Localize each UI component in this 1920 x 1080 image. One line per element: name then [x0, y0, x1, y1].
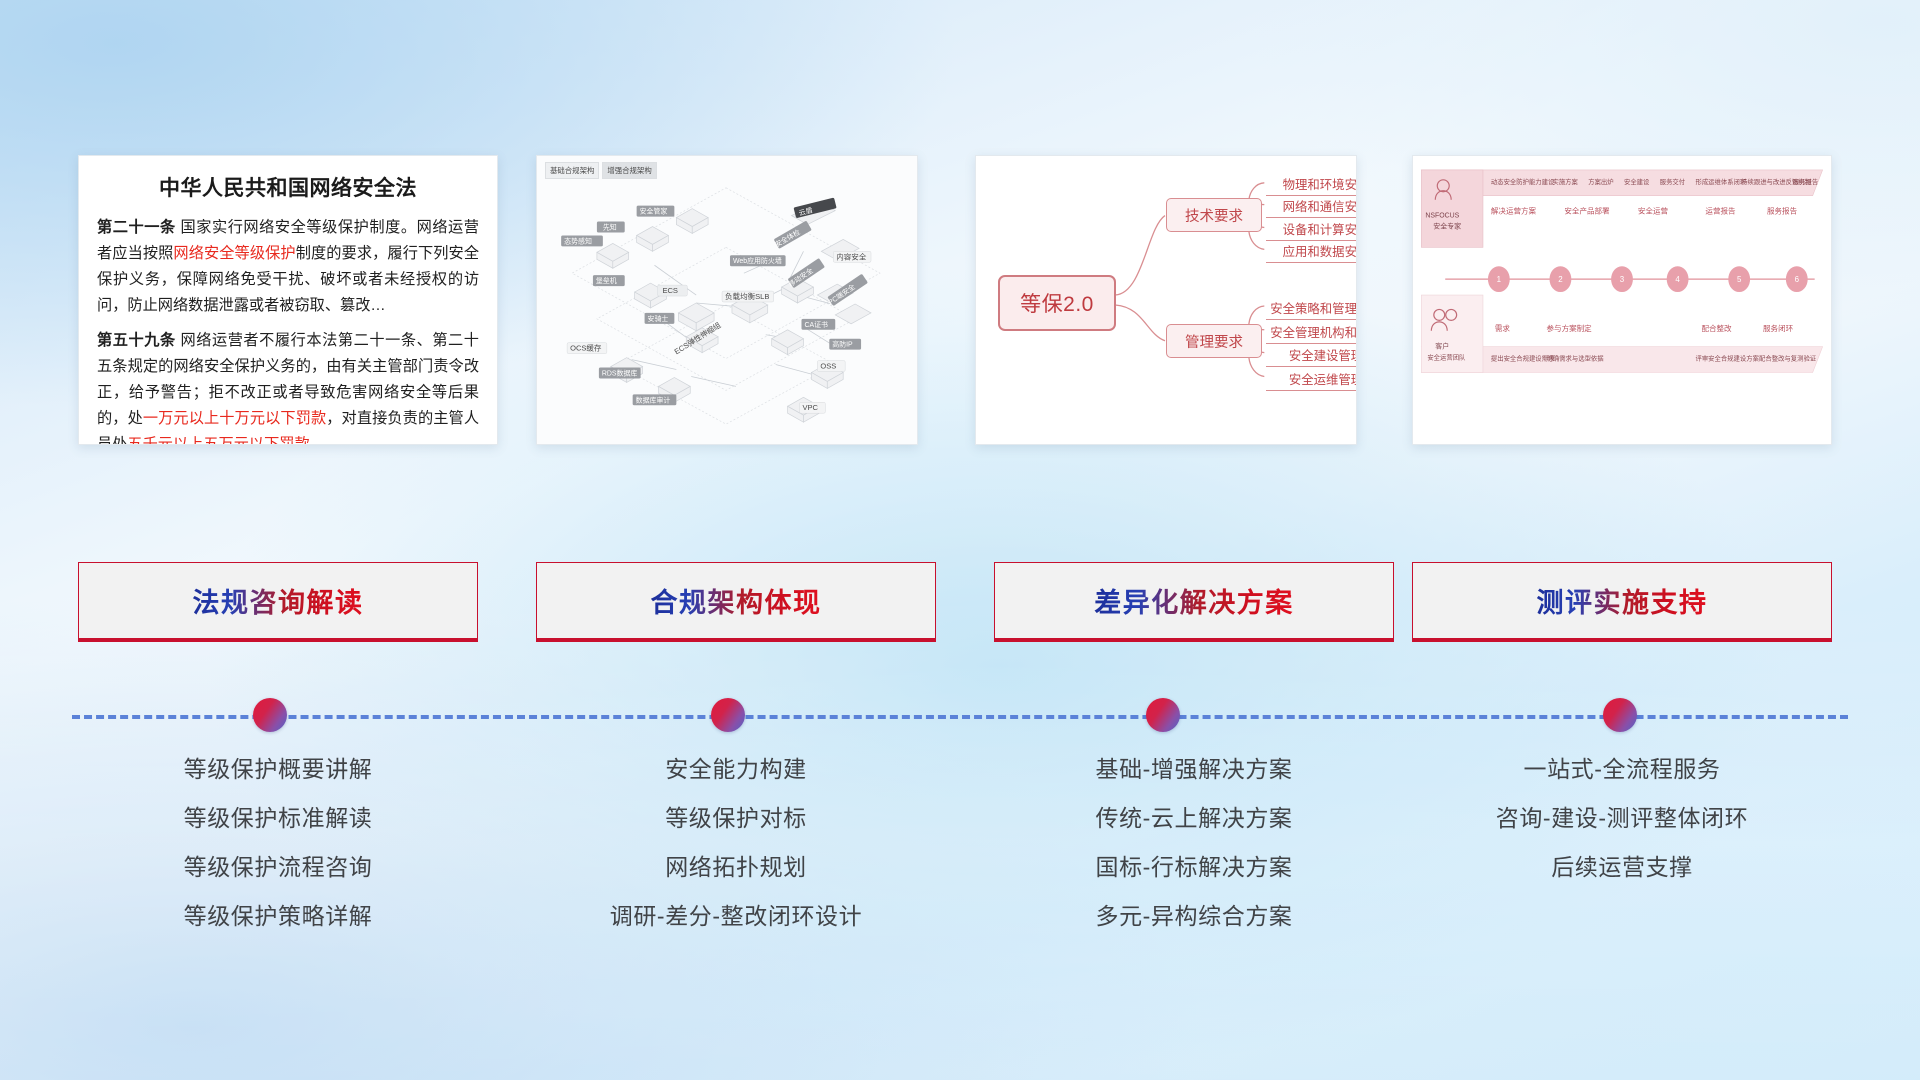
- process-chart: NSFOCUS 安全专家 客户 安全运营团队 动态安全防护能力建设 实施方案 方…: [1413, 156, 1831, 444]
- list-item: 咨询-建设-测评整体闭环: [1412, 794, 1832, 843]
- headline-box-assessment-support[interactable]: 测评实施支持: [1412, 562, 1832, 642]
- architecture-svg: 态势感知 先知 安全管家 堡垒机 ECS 安骑士 OCS缓存: [537, 156, 917, 444]
- mindmap-branch-management: 管理要求: [1166, 324, 1262, 358]
- mindmap-leaf: 设备和计算安全: [1266, 217, 1357, 241]
- mindmap-leaf: 安全建设管理: [1266, 343, 1357, 367]
- thumbnail-law-document[interactable]: 中华人民共和国网络安全法 第二十一条 国家实行网络安全等级保护制度。网络运营者应…: [78, 155, 498, 445]
- brand-line-2: 安全专家: [1433, 221, 1461, 230]
- thumbnail-nsfocus-process[interactable]: NSFOCUS 安全专家 客户 安全运营团队 动态安全防护能力建设 实施方案 方…: [1412, 155, 1832, 445]
- node-label-18: OSS: [820, 362, 836, 371]
- mindmap-leaf: 安全运维管理: [1266, 367, 1357, 391]
- list-item: 后续运营支撑: [1412, 843, 1832, 892]
- list-item: 调研-差分-整改闭环设计: [536, 892, 936, 941]
- headline-box-differentiated-solution[interactable]: 差异化解决方案: [994, 562, 1394, 642]
- node-label-6: OCS缓存: [570, 343, 602, 353]
- process-top-label: 安全建设: [1624, 177, 1650, 186]
- list-item: 等级保护对标: [536, 794, 936, 843]
- detail-column-assessment-support: 一站式-全流程服务 咨询-建设-测评整体闭环 后续运营支撑: [1412, 745, 1832, 892]
- timeline-dot-4[interactable]: [1603, 698, 1637, 732]
- node-label-8: 数据库审计: [636, 395, 671, 404]
- thumbnail-row: 中华人民共和国网络安全法 第二十一条 国家实行网络安全等级保护制度。网络运营者应…: [0, 155, 1920, 450]
- list-item: 等级保护标准解读: [78, 794, 478, 843]
- list-item: 传统-云上解决方案: [994, 794, 1394, 843]
- timeline-dot-2[interactable]: [711, 698, 745, 732]
- detail-column-differentiated-solution: 基础-增强解决方案 传统-云上解决方案 国标-行标解决方案 多元-异构综合方案: [994, 745, 1394, 941]
- process-step-number: 4: [1675, 275, 1680, 284]
- node-label-3: 堡垒机: [596, 276, 617, 285]
- list-item: 等级保护概要讲解: [78, 745, 478, 794]
- node-label-19: VPC: [802, 403, 818, 412]
- law-run: 。: [310, 436, 325, 445]
- law-document-body: 中华人民共和国网络安全法 第二十一条 国家实行网络安全等级保护制度。网络运营者应…: [79, 156, 497, 445]
- node-label-4: ECS: [662, 286, 678, 295]
- brand-line-1: NSFOCUS: [1425, 213, 1459, 220]
- mindmap-branch-technical: 技术要求: [1166, 198, 1262, 232]
- node-label-5: 安骑士: [648, 314, 669, 323]
- process-expert-label: 服务报告: [1767, 206, 1798, 216]
- headline-label: 差异化解决方案: [1094, 581, 1294, 620]
- list-item: 等级保护策略详解: [78, 892, 478, 941]
- law-paragraph-59: 第五十九条 网络运营者不履行本法第二十一条、第二十五条规定的网络安全保护义务的，…: [97, 328, 479, 445]
- list-item: 等级保护流程咨询: [78, 843, 478, 892]
- timeline: [0, 696, 1920, 736]
- tab-enhanced-architecture[interactable]: 增强合规架构: [602, 162, 656, 179]
- list-item: 基础-增强解决方案: [994, 745, 1394, 794]
- process-bottom-note: 评审安全合规建设方案: [1695, 354, 1759, 363]
- node-label-0: 态势感知: [564, 236, 592, 245]
- node-label-13: 内容安全: [836, 251, 867, 261]
- process-bottom-label: 配合整改: [1701, 323, 1732, 333]
- timeline-dot-3[interactable]: [1146, 698, 1180, 732]
- process-step-number: 6: [1795, 275, 1800, 284]
- process-top-label: 服务报告: [1793, 177, 1818, 186]
- law-run-highlight: 网络安全等级保护: [173, 245, 295, 262]
- process-bottom-note: 明确需求与选型依据: [1547, 354, 1605, 363]
- node-label-9: 负载均衡SLB: [725, 291, 769, 301]
- headline-box-compliance-architecture[interactable]: 合规架构体现: [536, 562, 936, 642]
- mindmap-leaf: 应用和数据安全: [1266, 239, 1357, 263]
- process-top-label: 动态安全防护能力建设: [1491, 177, 1555, 186]
- node-label-16: CA证书: [804, 320, 828, 329]
- list-item: 网络拓扑规划: [536, 843, 936, 892]
- process-top-label: 形成运维体系闭环: [1695, 177, 1746, 186]
- headline-label: 合规架构体现: [651, 581, 822, 620]
- process-svg: NSFOCUS 安全专家 客户 安全运营团队 动态安全防护能力建设 实施方案 方…: [1413, 156, 1831, 444]
- tab-basic-architecture[interactable]: 基础合规架构: [545, 162, 599, 179]
- process-bottom-label: 服务闭环: [1763, 323, 1794, 333]
- process-step-number: 1: [1497, 275, 1502, 284]
- mindmap-leaf: 物理和环境安全: [1266, 172, 1357, 196]
- process-top-label: 方案出炉: [1588, 177, 1613, 186]
- detail-column-compliance-architecture: 安全能力构建 等级保护对标 网络拓扑规划 调研-差分-整改闭环设计: [536, 745, 936, 941]
- mindmap-leaf: 安全管理机构和人员: [1266, 320, 1357, 344]
- process-step-number: 2: [1558, 275, 1563, 284]
- headline-label: 测评实施支持: [1537, 581, 1708, 620]
- law-title: 中华人民共和国网络安全法: [97, 172, 479, 202]
- law-article-number: 第五十九条: [97, 332, 176, 349]
- node-label-17: 高防IP: [832, 340, 853, 349]
- client-label-1: 客户: [1435, 342, 1449, 351]
- thumbnail-compliance-architecture[interactable]: 基础合规架构 增强合规架构: [536, 155, 918, 445]
- law-run-highlight: 一万元以上十万元以下罚款: [143, 410, 326, 427]
- process-top-label: 实施方案: [1552, 177, 1578, 186]
- process-expert-label: 安全运营: [1638, 206, 1669, 216]
- mindmap: 等保2.0 技术要求 管理要求 物理和环境安全 网络和通信安全 设备和计算安全 …: [976, 156, 1356, 444]
- mindmap-root-node: 等保2.0: [998, 275, 1116, 331]
- list-item: 一站式-全流程服务: [1412, 745, 1832, 794]
- node-label-2: 安全管家: [640, 207, 668, 216]
- law-run-highlight: 五千元以上五万元以下罚款: [127, 436, 309, 445]
- client-label-2: 安全运营团队: [1427, 353, 1466, 362]
- process-bottom-note: 提出安全合规建设需求: [1491, 354, 1555, 363]
- thumbnail-djcp-mindmap[interactable]: 等保2.0 技术要求 管理要求 物理和环境安全 网络和通信安全 设备和计算安全 …: [975, 155, 1357, 445]
- node-label-1: 先知: [603, 222, 617, 231]
- timeline-dashed-line: [72, 715, 1848, 719]
- process-bottom-note: 配合整改与复测验证: [1759, 354, 1817, 363]
- node-label-10: Web应用防火墙: [733, 256, 782, 265]
- process-bottom-label: 需求: [1495, 323, 1511, 333]
- detail-column-regulation-consulting: 等级保护概要讲解 等级保护标准解读 等级保护流程咨询 等级保护策略详解: [78, 745, 478, 941]
- headline-label: 法规咨询解读: [193, 581, 364, 620]
- list-item: 多元-异构综合方案: [994, 892, 1394, 941]
- mindmap-leaf: 安全策略和管理制度: [1266, 296, 1357, 320]
- process-step-number: 5: [1737, 275, 1742, 284]
- mindmap-leaf: 网络和通信安全: [1266, 194, 1357, 218]
- architecture-diagram: 基础合规架构 增强合规架构: [537, 156, 917, 444]
- law-article-number: 第二十一条: [97, 219, 176, 236]
- timeline-dot-1[interactable]: [253, 698, 287, 732]
- list-item: 国标-行标解决方案: [994, 843, 1394, 892]
- process-expert-label: 安全产品部署: [1564, 206, 1610, 216]
- process-expert-label: 解决运营方案: [1491, 206, 1537, 216]
- law-paragraph-21: 第二十一条 国家实行网络安全等级保护制度。网络运营者应当按照网络安全等级保护制度…: [97, 215, 479, 320]
- slide-canvas: 中华人民共和国网络安全法 第二十一条 国家实行网络安全等级保护制度。网络运营者应…: [0, 0, 1920, 1080]
- list-item: 安全能力构建: [536, 745, 936, 794]
- headline-box-regulation-consulting[interactable]: 法规咨询解读: [78, 562, 478, 642]
- process-expert-label: 运营报告: [1705, 206, 1736, 216]
- process-bottom-label: 参与方案制定: [1547, 323, 1593, 333]
- process-top-label: 服务交付: [1660, 177, 1686, 186]
- process-step-number: 3: [1620, 275, 1625, 284]
- architecture-tab-group[interactable]: 基础合规架构 增强合规架构: [545, 162, 657, 179]
- node-label-7: RDS数据库: [602, 368, 638, 377]
